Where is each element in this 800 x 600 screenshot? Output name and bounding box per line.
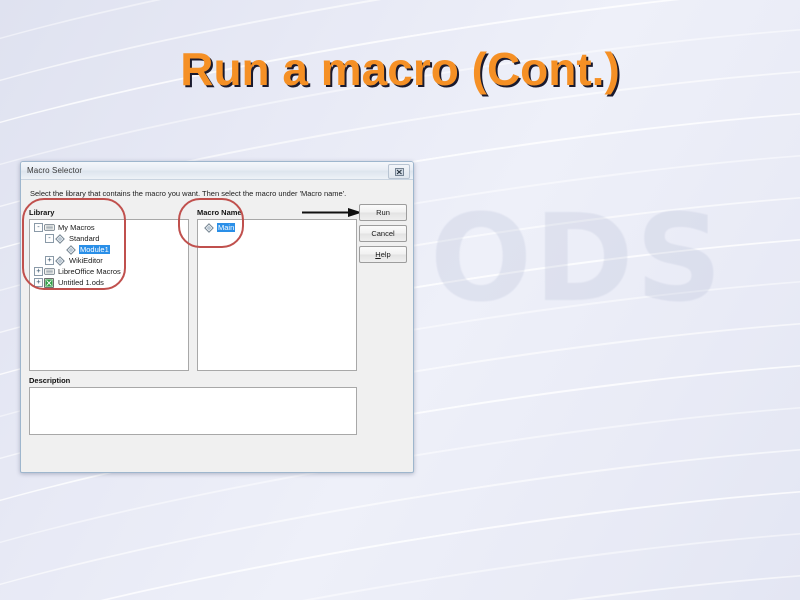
list-item[interactable]: Main: [200, 222, 356, 233]
macro-selector-dialog: Macro Selector Select the library that c…: [20, 161, 414, 473]
dialog-titlebar[interactable]: Macro Selector: [21, 162, 413, 180]
tree-item[interactable]: Module1: [32, 244, 188, 255]
module-icon: [55, 234, 66, 244]
module-icon: [55, 256, 65, 266]
module-icon: [204, 223, 214, 233]
tree-item-label: Module1: [79, 245, 110, 254]
dialog-title: Macro Selector: [27, 166, 82, 175]
macro-name-panel: Macro Name Main: [197, 208, 357, 371]
library-icon: [44, 223, 55, 232]
macro-name-panel-label: Macro Name: [197, 208, 357, 217]
close-glyph: [395, 168, 404, 176]
library-icon: [44, 223, 55, 233]
page-title: Run a macro (Cont.): [0, 42, 800, 96]
module-icon: [66, 245, 76, 255]
cancel-button[interactable]: Cancel: [359, 225, 407, 242]
module-icon: [55, 234, 65, 244]
library-icon: [44, 267, 55, 277]
tree-item[interactable]: -Standard: [32, 233, 188, 244]
spreadsheet-icon: [44, 278, 55, 288]
expand-toggle-icon[interactable]: +: [45, 256, 54, 265]
library-panel-label: Library: [29, 208, 189, 217]
run-button[interactable]: Run: [359, 204, 407, 221]
collapse-toggle-icon[interactable]: -: [34, 223, 43, 232]
library-panel: Library -My Macros-StandardModule1+WikiE…: [29, 208, 189, 371]
collapse-toggle-icon[interactable]: -: [45, 234, 54, 243]
tree-item[interactable]: -My Macros: [32, 222, 188, 233]
library-icon: [44, 267, 55, 276]
spreadsheet-icon: [44, 278, 54, 288]
library-tree-listbox[interactable]: -My Macros-StandardModule1+WikiEditor+Li…: [29, 219, 189, 371]
expand-toggle-icon[interactable]: +: [34, 278, 43, 287]
tree-item-label: Standard: [68, 234, 100, 243]
expander-spacer: [56, 245, 65, 254]
description-box[interactable]: [29, 387, 357, 435]
tree-item[interactable]: +LibreOffice Macros: [32, 266, 188, 277]
dialog-body: Select the library that contains the mac…: [21, 180, 413, 473]
tree-item-label: Untitled 1.ods: [57, 278, 105, 287]
tree-item-label: LibreOffice Macros: [57, 267, 122, 276]
module-icon: [66, 245, 77, 255]
tree-item-label: WikiEditor: [68, 256, 104, 265]
dialog-button-column: Run Cancel Help: [359, 204, 405, 267]
background-watermark: ODS: [430, 160, 770, 360]
description-label: Description: [29, 376, 357, 385]
description-section: Description: [29, 376, 357, 435]
close-icon[interactable]: [388, 164, 410, 179]
macro-name-listbox[interactable]: Main: [197, 219, 357, 371]
module-icon: [204, 223, 215, 233]
instruction-text: Select the library that contains the mac…: [30, 189, 405, 198]
tree-item-label: My Macros: [57, 223, 96, 232]
tree-item[interactable]: +WikiEditor: [32, 255, 188, 266]
help-button-label: elp: [381, 250, 391, 259]
expand-toggle-icon[interactable]: +: [34, 267, 43, 276]
list-item-label: Main: [217, 223, 235, 232]
help-button[interactable]: Help: [359, 246, 407, 263]
tree-item[interactable]: +Untitled 1.ods: [32, 277, 188, 288]
module-icon: [55, 256, 66, 266]
